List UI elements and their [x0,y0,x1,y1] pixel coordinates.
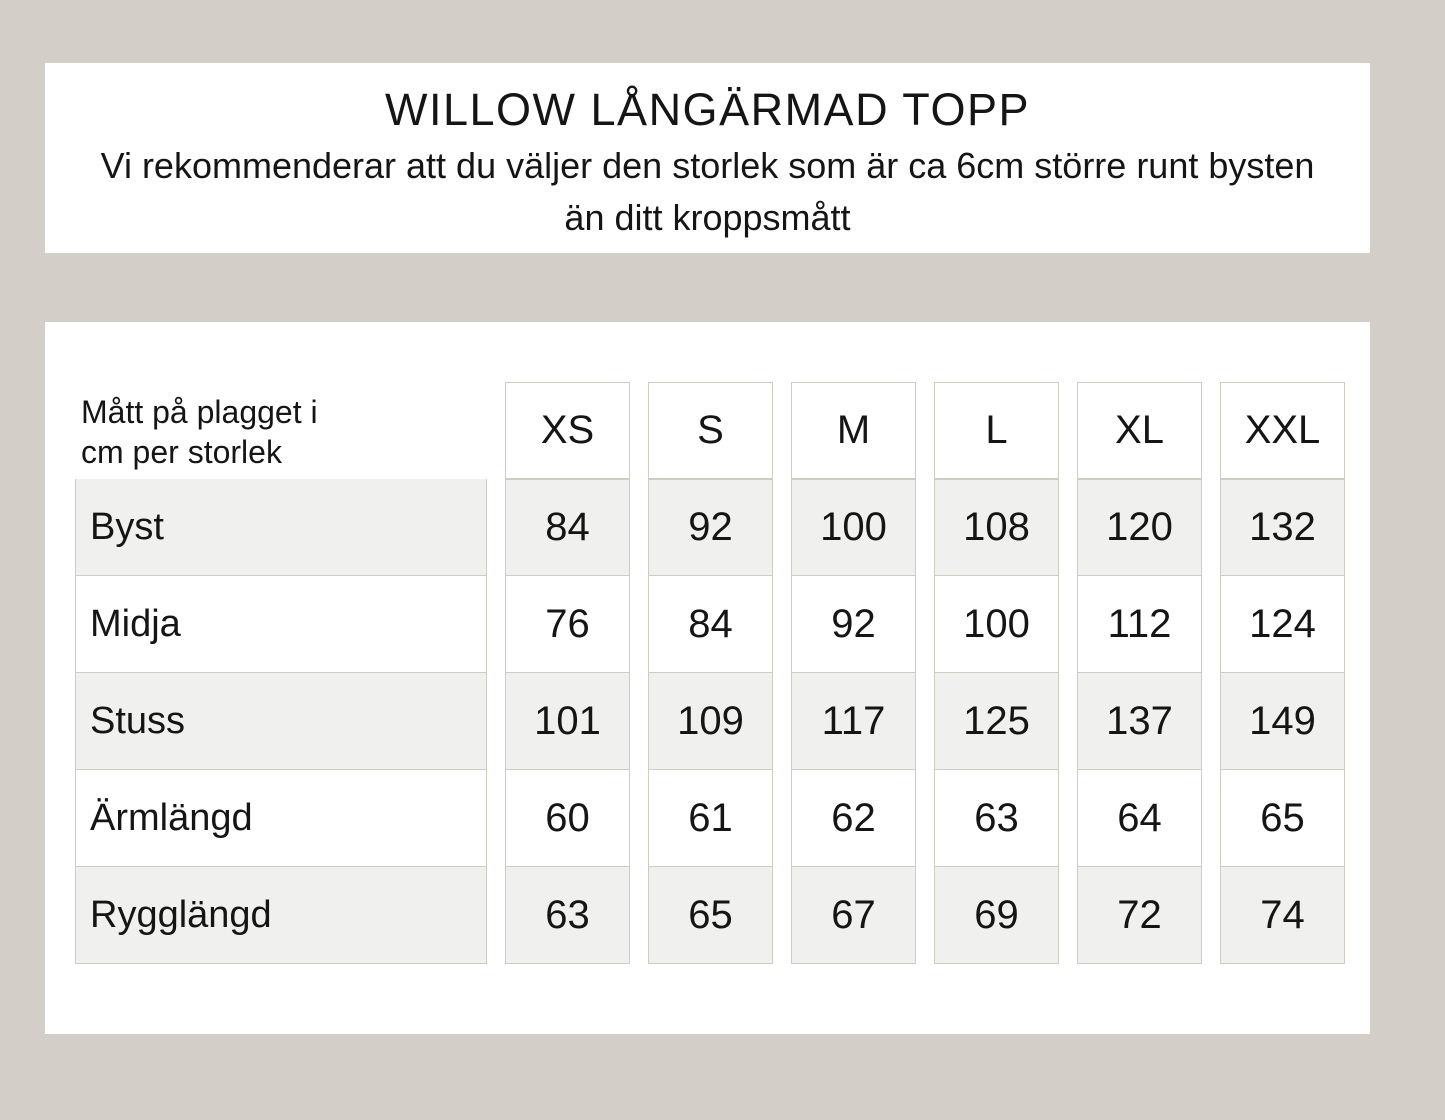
measurement-cell: 84 [505,479,630,576]
size-header-l: L [934,382,1059,479]
row-label: Rygglängd [75,867,487,964]
measurement-cell: 132 [1220,479,1345,576]
measurement-cell: 137 [1077,673,1202,770]
size-table-card: Mått på plagget icm per storlekBystMidja… [45,322,1370,1034]
page-subtitle: Vi rekommenderar att du väljer den storl… [78,140,1338,244]
header-card: WILLOW LÅNGÄRMAD TOPP Vi rekommenderar a… [45,63,1370,253]
measurement-cell: 76 [505,576,630,673]
measurement-cell: 109 [648,673,773,770]
measurement-cell: 72 [1077,867,1202,964]
row-label: Midja [75,576,487,673]
size-header-xl: XL [1077,382,1202,479]
measurement-cell: 100 [934,576,1059,673]
size-table: Mått på plagget icm per storlekBystMidja… [75,382,1350,964]
row-label: Ärmlängd [75,770,487,867]
size-column-m: M100921176267 [791,382,916,964]
row-label: Stuss [75,673,487,770]
size-column-xs: XS84761016063 [505,382,630,964]
size-header-s: S [648,382,773,479]
measurement-cell: 62 [791,770,916,867]
measurement-cell: 64 [1077,770,1202,867]
row-label: Byst [75,479,487,576]
measurement-cell: 125 [934,673,1059,770]
label-column: Mått på plagget icm per storlekBystMidja… [75,382,487,964]
measurement-cell: 63 [505,867,630,964]
measurement-cell: 84 [648,576,773,673]
measurement-cell: 67 [791,867,916,964]
size-header-m: M [791,382,916,479]
measurement-cell: 92 [791,576,916,673]
measurement-cell: 60 [505,770,630,867]
size-chart-page: WILLOW LÅNGÄRMAD TOPP Vi rekommenderar a… [0,0,1445,1120]
size-column-l: L1081001256369 [934,382,1059,964]
measurement-cell: 108 [934,479,1059,576]
measurement-cell: 101 [505,673,630,770]
size-header-xs: XS [505,382,630,479]
measurement-cell: 63 [934,770,1059,867]
size-header-xxl: XXL [1220,382,1345,479]
measurement-cell: 124 [1220,576,1345,673]
measurement-cell: 100 [791,479,916,576]
size-column-s: S92841096165 [648,382,773,964]
size-column-xxl: XXL1321241496574 [1220,382,1345,964]
measurement-cell: 65 [648,867,773,964]
measurement-cell: 65 [1220,770,1345,867]
measurement-cell: 69 [934,867,1059,964]
measurement-cell: 92 [648,479,773,576]
corner-label-line2: cm per storlek [81,433,282,472]
table-corner-label: Mått på plagget icm per storlek [75,382,487,479]
corner-label-line1: Mått på plagget i [81,393,318,432]
page-title: WILLOW LÅNGÄRMAD TOPP [385,83,1030,136]
measurement-cell: 112 [1077,576,1202,673]
measurement-cell: 74 [1220,867,1345,964]
size-column-xl: XL1201121376472 [1077,382,1202,964]
measurement-cell: 120 [1077,479,1202,576]
measurement-cell: 149 [1220,673,1345,770]
measurement-cell: 117 [791,673,916,770]
measurement-cell: 61 [648,770,773,867]
